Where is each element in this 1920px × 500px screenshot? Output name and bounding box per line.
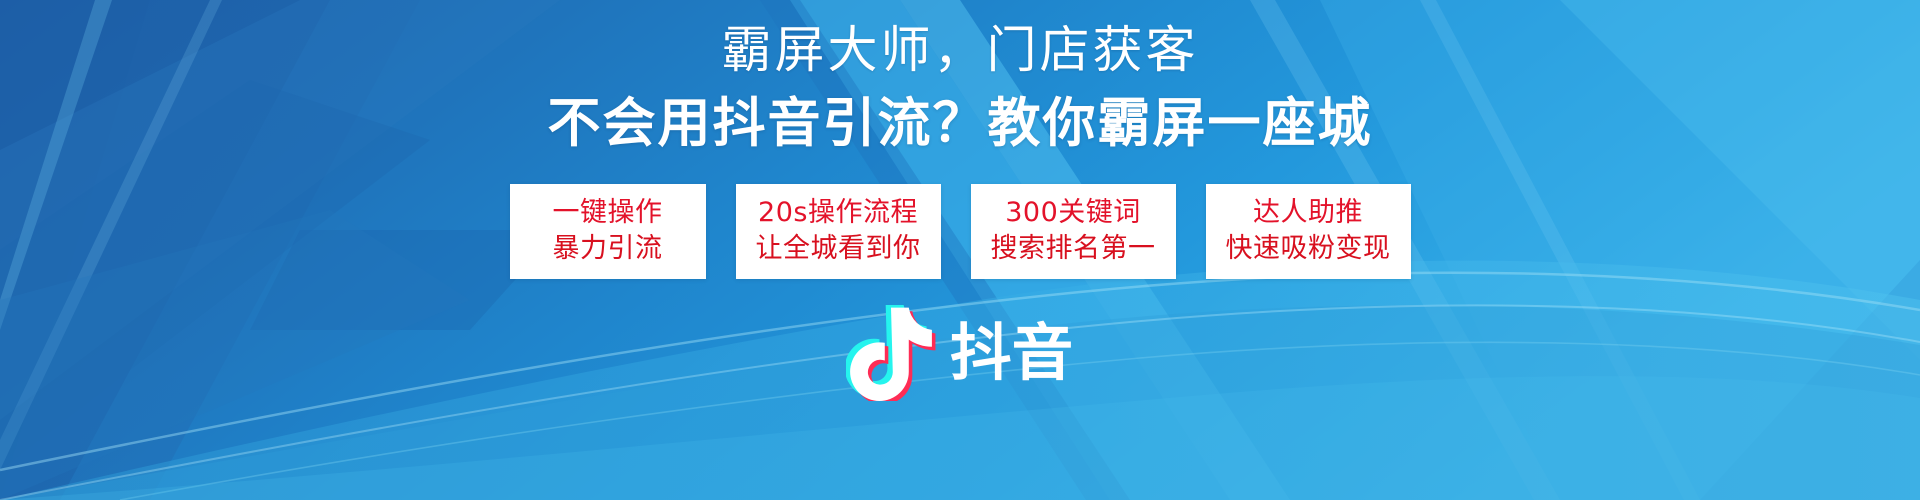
page-subtitle: 不会用抖音引流？教你霸屏一座城 [548, 94, 1373, 155]
douyin-wordmark: 抖音 [950, 316, 1082, 390]
douyin-logo: 抖音 [838, 305, 1082, 401]
badge-line-2: 暴力引流 [553, 231, 663, 266]
feature-badge-list: 一键操作 暴力引流 20s操作流程 让全城看到你 300关键词 搜索排名第一 达… [510, 184, 1411, 278]
feature-badge[interactable]: 300关键词 搜索排名第一 [971, 184, 1176, 278]
badge-line-1: 一键操作 [553, 195, 663, 230]
douyin-wordmark-text: 抖音 [950, 317, 1073, 389]
feature-badge[interactable]: 达人助推 快速吸粉变现 [1206, 184, 1411, 278]
promo-banner: 霸屏大师，门店获客 不会用抖音引流？教你霸屏一座城 一键操作 暴力引流 20s操… [0, 0, 1920, 500]
feature-badge[interactable]: 一键操作 暴力引流 [510, 184, 706, 278]
page-title: 霸屏大师，门店获客 [722, 22, 1199, 80]
badge-line-2: 让全城看到你 [756, 231, 921, 266]
badge-line-2: 搜索排名第一 [991, 231, 1156, 266]
badge-line-1: 300关键词 [1005, 195, 1141, 230]
badge-line-1: 20s操作流程 [758, 195, 918, 230]
douyin-music-note-icon [846, 305, 936, 401]
banner-content: 霸屏大师，门店获客 不会用抖音引流？教你霸屏一座城 一键操作 暴力引流 20s操… [0, 0, 1920, 500]
feature-badge[interactable]: 20s操作流程 让全城看到你 [736, 184, 941, 278]
badge-line-2: 快速吸粉变现 [1226, 231, 1391, 266]
badge-line-1: 达人助推 [1253, 195, 1363, 230]
